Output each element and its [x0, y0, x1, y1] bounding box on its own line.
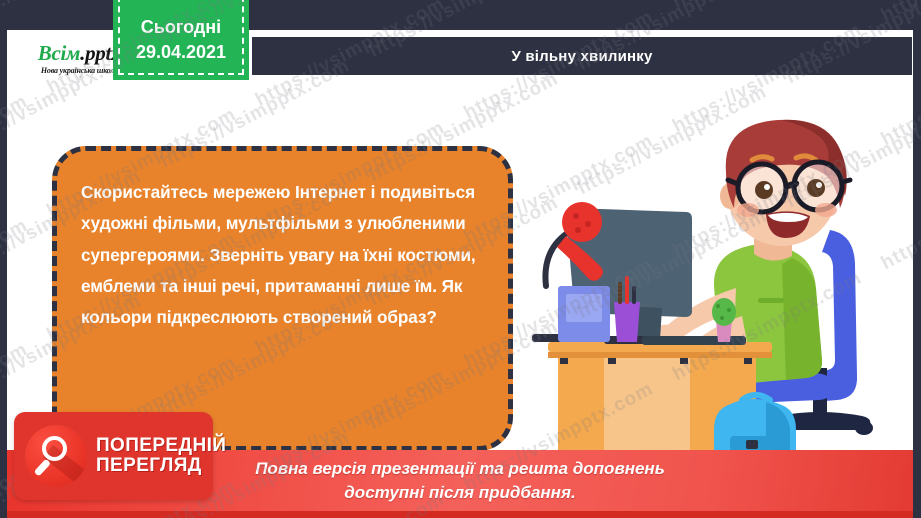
preview-badge: ПОПЕРЕДНІЙ ПЕРЕГЛЯД	[14, 412, 213, 500]
date-badge: Сьогодні 29.04.2021	[113, 0, 249, 80]
preview-badge-line1: ПОПЕРЕДНІЙ	[96, 436, 226, 456]
illustration-boy-at-computer	[530, 110, 915, 458]
slide-canvas: Скористайтесь мережею Інтернет і подивіт…	[0, 0, 921, 518]
magnifier-icon	[25, 425, 87, 487]
date-badge-value: 29.04.2021	[136, 40, 226, 64]
content-text: Скористайтесь мережею Інтернет і подивіт…	[81, 177, 482, 333]
slide-header-bar: У вільну хвилинку	[252, 37, 912, 75]
content-callout-box: Скористайтесь мережею Інтернет і подивіт…	[52, 146, 513, 451]
slide-title: У вільну хвилинку	[511, 48, 652, 65]
purchase-notice-line2: доступні після придбання.	[344, 481, 575, 505]
magnifier-icon-handle	[34, 459, 51, 477]
preview-badge-text: ПОПЕРЕДНІЙ ПЕРЕГЛЯД	[96, 436, 226, 477]
date-badge-label: Сьогодні	[141, 15, 221, 39]
brand-logo-subtitle: Нова українська школа	[41, 66, 118, 75]
purchase-notice-strip	[7, 511, 913, 518]
magnifier-icon-lens	[42, 436, 67, 461]
purchase-notice-line1: Повна версія презентації та решта доповн…	[255, 457, 665, 481]
brand-logo-name: Всім	[38, 41, 80, 65]
preview-badge-line2: ПЕРЕГЛЯД	[96, 456, 226, 476]
frame-left	[0, 0, 7, 518]
brand-logo-title: Всім.pptx	[38, 43, 121, 64]
